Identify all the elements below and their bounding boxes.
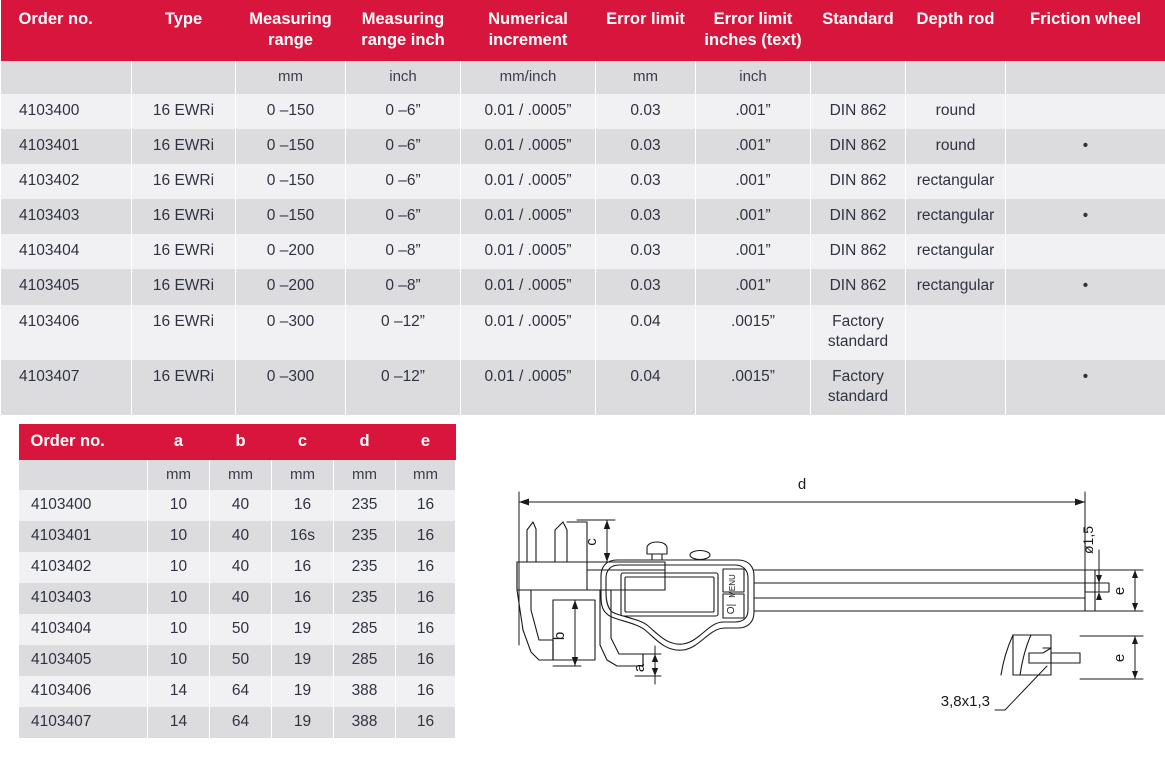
drawing-label-tip: 3,8x1,3 [941, 693, 990, 710]
specs-cell-standard: DIN 862 [811, 94, 906, 129]
dims-unit-cell: mm [272, 460, 334, 490]
dims-cell-d: 388 [334, 676, 396, 707]
specs-cell-order-no: 4103403 [1, 199, 132, 234]
specs-cell-error-inch: .0015” [696, 360, 811, 415]
specs-cell-range-mm: 0 –300 [236, 305, 346, 360]
caliper-lock-screw [647, 542, 667, 560]
dims-cell-a: 10 [148, 490, 210, 521]
specs-cell-order-no: 4103402 [1, 164, 132, 199]
specs-table-row: 410340616 EWRi0 –3000 –12”0.01 / .0005”0… [1, 305, 1165, 360]
specs-cell-standard: Factory standard [811, 305, 906, 360]
specs-cell-standard: DIN 862 [811, 129, 906, 164]
specs-cell-error-mm: 0.03 [596, 269, 696, 304]
specs-table-row: 410340016 EWRi0 –1500 –6”0.01 / .0005”0.… [1, 94, 1165, 129]
specs-cell-standard: DIN 862 [811, 164, 906, 199]
dims-cell-d: 235 [334, 521, 396, 552]
dims-header-order-no: Order no. [19, 424, 148, 460]
specs-table-row: 410340316 EWRi0 –1500 –6”0.01 / .0005”0.… [1, 199, 1165, 234]
specs-unit-cell [811, 61, 906, 94]
specs-unit-cell [1006, 61, 1165, 94]
specs-cell-depth-rod: rectangular [906, 269, 1006, 304]
specs-cell-error-mm: 0.03 [596, 199, 696, 234]
dims-unit-cell: mm [148, 460, 210, 490]
dims-cell-e: 16 [396, 614, 456, 645]
specs-unit-row: mminchmm/inchmminch [1, 61, 1165, 94]
specs-cell-error-inch: .0015” [696, 305, 811, 360]
dims-cell-d: 235 [334, 583, 396, 614]
specs-cell-error-mm: 0.03 [596, 94, 696, 129]
specs-cell-error-mm: 0.03 [596, 129, 696, 164]
specs-cell-friction-wheel: • [1006, 269, 1165, 304]
dimension-line-d [519, 492, 1085, 645]
dims-cell-c: 16s [272, 521, 334, 552]
dims-cell-order_no: 4103403 [19, 583, 148, 614]
dims-cell-b: 40 [210, 583, 272, 614]
specs-header-standard: Standard [811, 0, 906, 61]
specs-cell-range-inch: 0 –8” [346, 234, 461, 269]
dims-cell-order_no: 4103402 [19, 552, 148, 583]
specs-cell-friction-wheel [1006, 234, 1165, 269]
dims-header-d: d [334, 424, 396, 460]
drawing-label-c: c [583, 538, 600, 546]
specs-table-row: 410340516 EWRi0 –2000 –8”0.01 / .0005”0.… [1, 269, 1165, 304]
specs-cell-friction-wheel: • [1006, 129, 1165, 164]
drawing-label-b: b [551, 632, 568, 640]
caliper-tip-detail [1001, 635, 1080, 675]
dims-header-b: b [210, 424, 272, 460]
specs-unit-cell: mm [596, 61, 696, 94]
dims-cell-d: 388 [334, 707, 396, 738]
specs-cell-increment: 0.01 / .0005” [461, 305, 596, 360]
dims-cell-a: 10 [148, 583, 210, 614]
dims-cell-e: 16 [396, 583, 456, 614]
specs-unit-cell: mm [236, 61, 346, 94]
specs-header-error-limit-inches: Error limit inches (text) [696, 0, 811, 61]
dims-cell-e: 16 [396, 490, 456, 521]
specs-cell-standard: DIN 862 [811, 234, 906, 269]
specs-cell-friction-wheel [1006, 305, 1165, 360]
specs-cell-error-inch: .001” [696, 129, 811, 164]
dims-cell-order_no: 4103405 [19, 645, 148, 676]
dims-cell-c: 16 [272, 490, 334, 521]
specs-header-row: Order no. Type Measuring range Measuring… [1, 0, 1165, 61]
specs-header-type: Type [132, 0, 236, 61]
specs-cell-depth-rod: round [906, 94, 1006, 129]
caliper-upper-jaws [527, 522, 587, 562]
specs-unit-cell [906, 61, 1006, 94]
specs-cell-range-mm: 0 –300 [236, 360, 346, 415]
specs-header-depth-rod: Depth rod [906, 0, 1006, 61]
specs-table-row: 410340416 EWRi0 –2000 –8”0.01 / .0005”0.… [1, 234, 1165, 269]
specs-unit-cell [132, 61, 236, 94]
specs-cell-standard: DIN 862 [811, 199, 906, 234]
dims-cell-e: 16 [396, 645, 456, 676]
dims-header-row: Order no. a b c d e [19, 424, 456, 460]
specs-cell-type: 16 EWRi [132, 94, 236, 129]
dims-cell-e: 16 [396, 521, 456, 552]
specs-cell-type: 16 EWRi [132, 199, 236, 234]
dims-cell-order_no: 4103406 [19, 676, 148, 707]
dims-cell-d: 285 [334, 645, 396, 676]
specs-cell-error-inch: .001” [696, 234, 811, 269]
specs-cell-standard: Factory standard [811, 360, 906, 415]
dims-table-row: 410340614641938816 [19, 676, 456, 707]
drawing-label-menu: MENU [728, 574, 737, 598]
specs-cell-range-inch: 0 –6” [346, 199, 461, 234]
specs-cell-increment: 0.01 / .0005” [461, 269, 596, 304]
specs-cell-type: 16 EWRi [132, 305, 236, 360]
caliper-technical-drawing: d c b [495, 470, 1160, 760]
dims-cell-c: 19 [272, 645, 334, 676]
specs-cell-order-no: 4103406 [1, 305, 132, 360]
specs-cell-depth-rod [906, 305, 1006, 360]
specs-cell-order-no: 4103407 [1, 360, 132, 415]
drawing-label-e-top: e [1111, 587, 1128, 595]
specs-unit-cell: inch [696, 61, 811, 94]
dims-cell-e: 16 [396, 676, 456, 707]
specs-cell-error-mm: 0.03 [596, 234, 696, 269]
specs-cell-friction-wheel: • [1006, 199, 1165, 234]
specs-header-numerical-increment: Numerical increment [461, 0, 596, 61]
specs-cell-friction-wheel [1006, 164, 1165, 199]
dims-unit-cell: mm [334, 460, 396, 490]
dims-cell-b: 50 [210, 645, 272, 676]
specs-cell-range-mm: 0 –150 [236, 129, 346, 164]
dims-cell-a: 10 [148, 645, 210, 676]
dims-cell-b: 40 [210, 490, 272, 521]
drawing-label-a: a [631, 663, 648, 672]
dims-unit-row: mmmmmmmmmm [19, 460, 456, 490]
drawing-label-e-bottom: e [1111, 654, 1128, 662]
dims-cell-e: 16 [396, 552, 456, 583]
specs-header-order-no: Order no. [1, 0, 132, 61]
specs-cell-error-inch: .001” [696, 94, 811, 129]
dims-cell-b: 64 [210, 707, 272, 738]
specs-cell-depth-rod: rectangular [906, 199, 1006, 234]
specs-cell-friction-wheel: • [1006, 360, 1165, 415]
specs-cell-friction-wheel [1006, 94, 1165, 129]
specs-cell-increment: 0.01 / .0005” [461, 234, 596, 269]
specs-table-row: 410340716 EWRi0 –3000 –12”0.01 / .0005”0… [1, 360, 1165, 415]
specs-cell-error-mm: 0.03 [596, 164, 696, 199]
specs-cell-error-inch: .001” [696, 199, 811, 234]
specs-cell-depth-rod: round [906, 129, 1006, 164]
dims-cell-a: 10 [148, 614, 210, 645]
specs-cell-order-no: 4103401 [1, 129, 132, 164]
specs-table-row: 410340216 EWRi0 –1500 –6”0.01 / .0005”0.… [1, 164, 1165, 199]
dims-table-row: 410340714641938816 [19, 707, 456, 738]
dimensions-table: Order no. a b c d e mmmmmmmmmm4103400104… [18, 424, 456, 738]
dims-cell-b: 50 [210, 614, 272, 645]
specs-cell-depth-rod: rectangular [906, 164, 1006, 199]
dims-cell-a: 14 [148, 707, 210, 738]
specs-cell-range-inch: 0 –12” [346, 360, 461, 415]
specs-cell-increment: 0.01 / .0005” [461, 199, 596, 234]
specs-cell-range-inch: 0 –12” [346, 305, 461, 360]
specs-cell-error-mm: 0.04 [596, 305, 696, 360]
dims-unit-cell: mm [210, 460, 272, 490]
specs-cell-range-inch: 0 –6” [346, 164, 461, 199]
specs-cell-range-inch: 0 –8” [346, 269, 461, 304]
dims-cell-order_no: 4103400 [19, 490, 148, 521]
dims-cell-order_no: 4103401 [19, 521, 148, 552]
dims-unit-cell [19, 460, 148, 490]
tip-leader-line [995, 666, 1047, 710]
specs-cell-depth-rod [906, 360, 1006, 415]
specifications-table: Order no. Type Measuring range Measuring… [0, 0, 1165, 415]
specs-cell-error-inch: .001” [696, 269, 811, 304]
specs-header-measuring-range-inch: Measuring range inch [346, 0, 461, 61]
dims-cell-order_no: 4103404 [19, 614, 148, 645]
specs-cell-order-no: 4103400 [1, 94, 132, 129]
specs-cell-increment: 0.01 / .0005” [461, 164, 596, 199]
dims-table-row: 410340010401623516 [19, 490, 456, 521]
specs-cell-type: 16 EWRi [132, 129, 236, 164]
dims-cell-a: 10 [148, 552, 210, 583]
dims-cell-a: 14 [148, 676, 210, 707]
specs-cell-range-mm: 0 –200 [236, 269, 346, 304]
specs-cell-order-no: 4103404 [1, 234, 132, 269]
dims-cell-c: 16 [272, 552, 334, 583]
dims-cell-d: 235 [334, 552, 396, 583]
specs-cell-range-mm: 0 –150 [236, 164, 346, 199]
specs-cell-range-mm: 0 –150 [236, 94, 346, 129]
dims-cell-d: 285 [334, 614, 396, 645]
specs-table-row: 410340116 EWRi0 –1500 –6”0.01 / .0005”0.… [1, 129, 1165, 164]
specs-header-error-limit: Error limit [596, 0, 696, 61]
dims-header-a: a [148, 424, 210, 460]
caliper-depth-thumbwheel [690, 551, 710, 560]
dims-cell-d: 235 [334, 490, 396, 521]
dims-cell-b: 40 [210, 552, 272, 583]
specs-header-measuring-range: Measuring range [236, 0, 346, 61]
specs-cell-type: 16 EWRi [132, 234, 236, 269]
drawing-label-onoff: O| [726, 604, 737, 614]
specs-cell-error-mm: 0.04 [596, 360, 696, 415]
specs-cell-increment: 0.01 / .0005” [461, 129, 596, 164]
specs-unit-cell: mm/inch [461, 61, 596, 94]
specs-cell-range-mm: 0 –200 [236, 234, 346, 269]
specs-cell-range-inch: 0 –6” [346, 94, 461, 129]
caliper-beam [517, 562, 665, 590]
dims-cell-c: 19 [272, 707, 334, 738]
dims-cell-c: 19 [272, 614, 334, 645]
specs-cell-range-mm: 0 –150 [236, 199, 346, 234]
specs-unit-cell [1, 61, 132, 94]
specs-cell-type: 16 EWRi [132, 269, 236, 304]
dims-cell-c: 16 [272, 583, 334, 614]
specs-cell-increment: 0.01 / .0005” [461, 360, 596, 415]
caliper-depth-rod [754, 570, 1109, 611]
specs-cell-increment: 0.01 / .0005” [461, 94, 596, 129]
specs-cell-order-no: 4103405 [1, 269, 132, 304]
dims-cell-e: 16 [396, 707, 456, 738]
dims-table-row: 4103401104016s23516 [19, 521, 456, 552]
caliper-fixed-jaw [517, 562, 595, 660]
drawing-label-diameter: ø1,5 [1080, 526, 1096, 554]
dims-header-c: c [272, 424, 334, 460]
specs-header-friction-wheel: Friction wheel [1006, 0, 1165, 61]
specs-cell-depth-rod: rectangular [906, 234, 1006, 269]
dims-cell-b: 64 [210, 676, 272, 707]
dims-cell-c: 19 [272, 676, 334, 707]
drawing-label-d: d [798, 476, 806, 493]
specs-cell-range-inch: 0 –6” [346, 129, 461, 164]
specs-cell-type: 16 EWRi [132, 360, 236, 415]
dims-cell-order_no: 4103407 [19, 707, 148, 738]
specs-unit-cell: inch [346, 61, 461, 94]
specs-cell-type: 16 EWRi [132, 164, 236, 199]
dims-table-row: 410340410501928516 [19, 614, 456, 645]
dims-table-row: 410340310401623516 [19, 583, 456, 614]
specs-cell-standard: DIN 862 [811, 269, 906, 304]
specs-cell-error-inch: .001” [696, 164, 811, 199]
dims-unit-cell: mm [396, 460, 456, 490]
dims-header-e: e [396, 424, 456, 460]
dims-cell-a: 10 [148, 521, 210, 552]
dims-table-row: 410340210401623516 [19, 552, 456, 583]
dims-table-row: 410340510501928516 [19, 645, 456, 676]
dims-cell-b: 40 [210, 521, 272, 552]
